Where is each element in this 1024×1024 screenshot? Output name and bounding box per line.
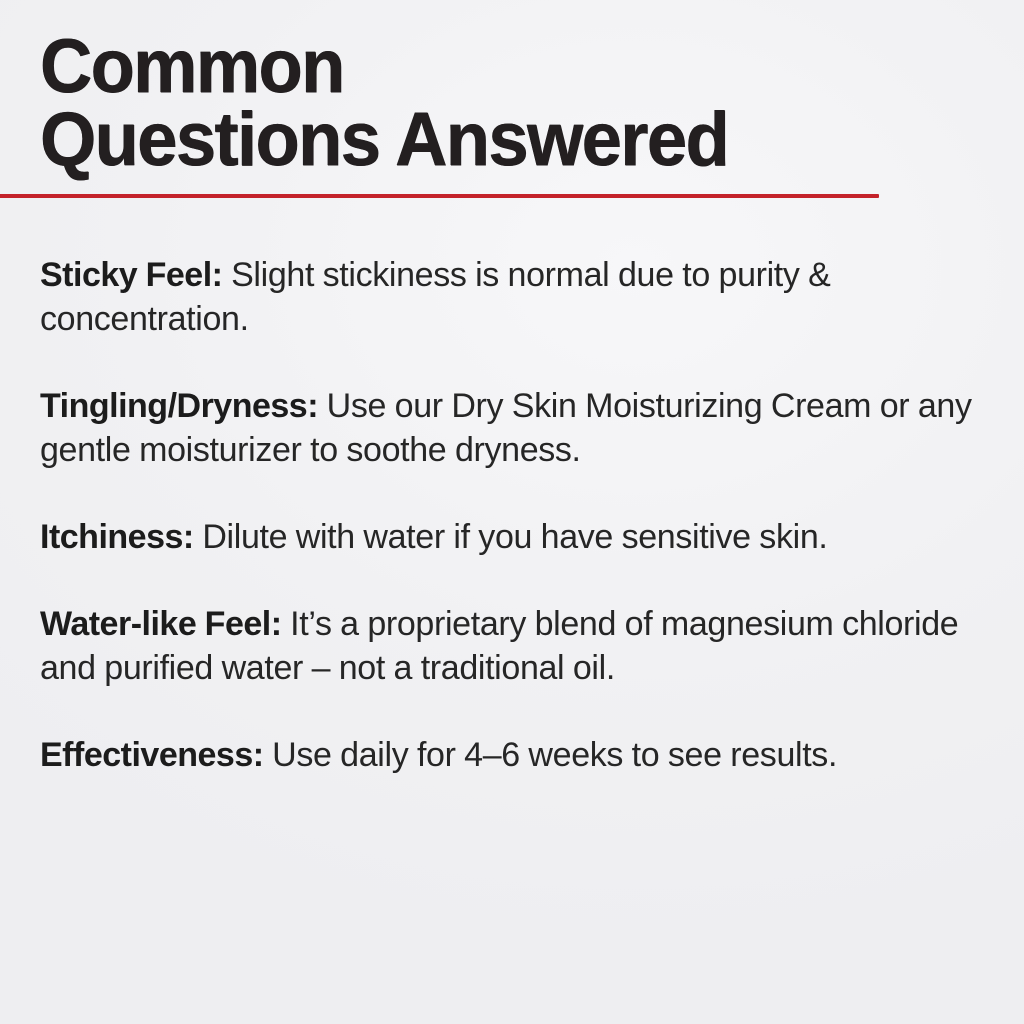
page-title-line-2: Questions Answered — [40, 103, 975, 176]
faq-term: Effectiveness: — [40, 736, 264, 774]
page-title-line-1: Common — [40, 30, 975, 103]
faq-term: Water-like Feel: — [40, 605, 282, 643]
faq-item: Tingling/Dryness: Use our Dry Skin Moist… — [40, 384, 1018, 472]
faq-list: Sticky Feel: Slight stickiness is normal… — [40, 253, 1018, 777]
faq-item: Sticky Feel: Slight stickiness is normal… — [40, 253, 1018, 341]
faq-item: Itchiness: Dilute with water if you have… — [40, 515, 1018, 559]
faq-description: Dilute with water if you have sensitive … — [202, 518, 827, 556]
faq-item: Water-like Feel: It’s a proprietary blen… — [40, 602, 1018, 690]
faq-description: Use daily for 4–6 weeks to see results. — [272, 736, 837, 774]
faq-term: Itchiness: — [40, 518, 194, 556]
title-divider — [0, 194, 879, 198]
faq-term: Sticky Feel: — [40, 256, 222, 294]
header: Common Questions Answered — [0, 0, 1024, 176]
page-title: Common Questions Answered — [0, 0, 1024, 176]
faq-item: Effectiveness: Use daily for 4–6 weeks t… — [40, 733, 1018, 777]
faq-card: Common Questions Answered Sticky Feel: S… — [0, 0, 1024, 1024]
faq-term: Tingling/Dryness: — [40, 387, 318, 425]
